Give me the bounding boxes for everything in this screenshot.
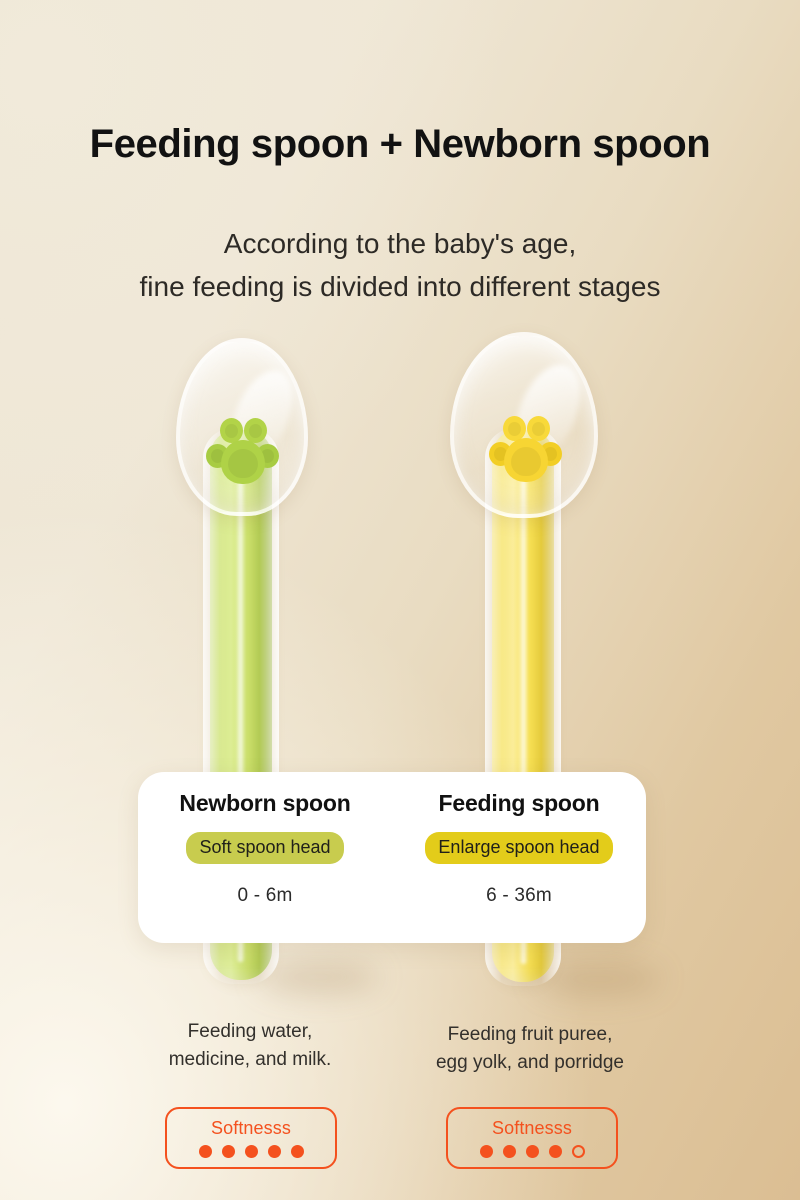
rating-dot-empty xyxy=(572,1145,585,1158)
comparison-column-feeding: Feeding spoon Enlarge spoon head 6 - 36m xyxy=(392,772,646,943)
rating-dot-filled xyxy=(480,1145,493,1158)
comparison-column-newborn: Newborn spoon Soft spoon head 0 - 6m xyxy=(138,772,392,943)
softness-badge-newborn: Softnesss xyxy=(165,1107,337,1169)
column-title: Newborn spoon xyxy=(179,790,350,817)
description-line-1: Feeding fruit puree, xyxy=(400,1021,660,1049)
description-line-2: medicine, and milk. xyxy=(120,1046,380,1074)
feature-badge: Enlarge spoon head xyxy=(425,832,612,864)
newborn-spoon-description: Feeding water, medicine, and milk. xyxy=(120,1018,380,1074)
rating-dot-filled xyxy=(503,1145,516,1158)
rating-dot-filled xyxy=(526,1145,539,1158)
feeding-spoon-description: Feeding fruit puree, egg yolk, and porri… xyxy=(400,1021,660,1077)
rating-dot-filled xyxy=(268,1145,281,1158)
age-range: 0 - 6m xyxy=(237,885,292,907)
softness-rating-dots xyxy=(480,1145,585,1158)
rating-dot-filled xyxy=(291,1145,304,1158)
column-title: Feeding spoon xyxy=(439,790,600,817)
comparison-card: Newborn spoon Soft spoon head 0 - 6m Fee… xyxy=(138,772,646,943)
newborn-paw-print-icon xyxy=(204,416,278,490)
feature-badge: Soft spoon head xyxy=(186,832,343,864)
rating-dot-filled xyxy=(199,1145,212,1158)
rating-dot-filled xyxy=(245,1145,258,1158)
subtitle-line-1: According to the baby's age, xyxy=(0,222,800,265)
description-line-1: Feeding water, xyxy=(120,1018,380,1046)
softness-label: Softnesss xyxy=(211,1118,291,1139)
description-line-2: egg yolk, and porridge xyxy=(400,1049,660,1077)
subtitle-line-2: fine feeding is divided into different s… xyxy=(0,265,800,308)
product-infographic: Feeding spoon + Newborn spoon According … xyxy=(0,0,800,1200)
age-range: 6 - 36m xyxy=(486,885,552,907)
softness-label: Softnesss xyxy=(492,1118,572,1139)
rating-dot-filled xyxy=(222,1145,235,1158)
rating-dot-filled xyxy=(549,1145,562,1158)
softness-rating-dots xyxy=(199,1145,304,1158)
softness-badge-feeding: Softnesss xyxy=(446,1107,618,1169)
page-subtitle: According to the baby's age, fine feedin… xyxy=(0,222,800,308)
feeding-paw-print-icon xyxy=(487,414,561,488)
page-headline: Feeding spoon + Newborn spoon xyxy=(0,122,800,167)
